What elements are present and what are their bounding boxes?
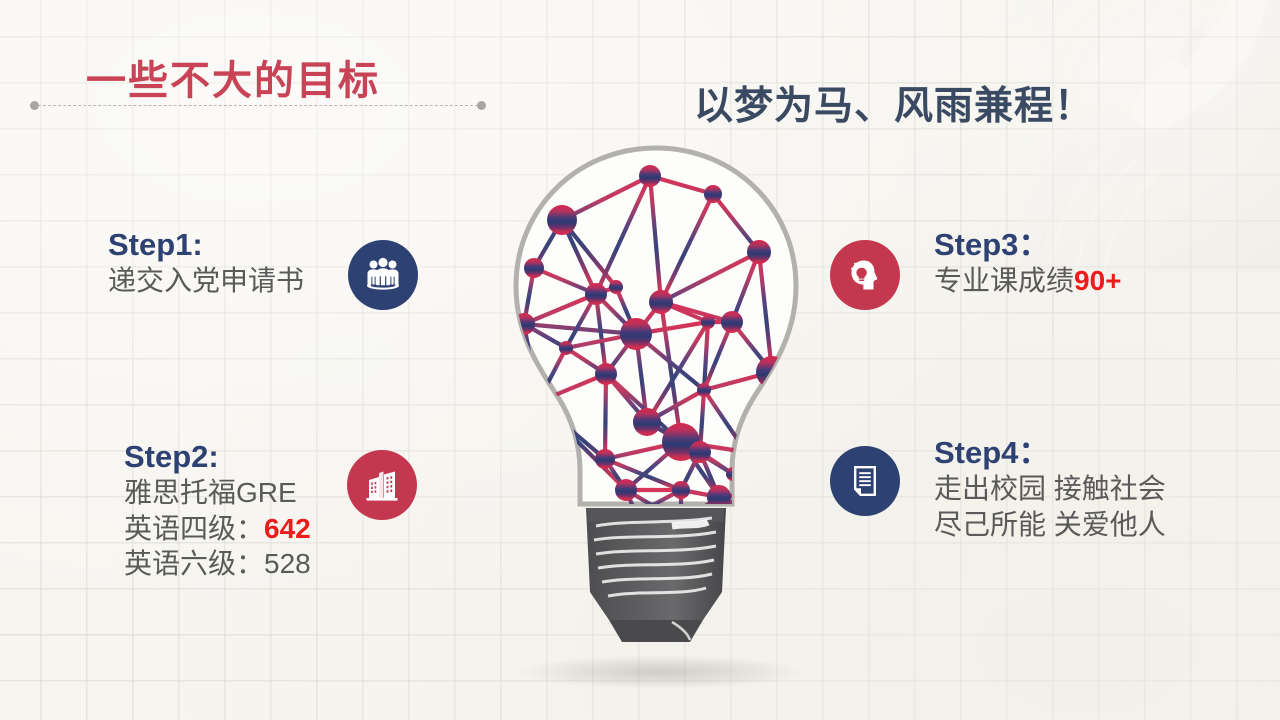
divider-dot-right (477, 101, 486, 110)
step-block-3: Step3： 专业课成绩90+ (830, 228, 1122, 310)
step4-label: Step4： (934, 436, 1166, 471)
step3-icon-badge (830, 240, 900, 310)
title-divider (30, 101, 486, 111)
step1-icon-badge (348, 240, 418, 310)
divider-dashed-line (38, 105, 478, 106)
step4-icon-badge (830, 446, 900, 516)
step-block-1: Step1: 递交入党申请书 (108, 228, 418, 310)
step3-body-highlight: 90+ (1074, 265, 1122, 296)
step3-body: 专业课成绩90+ (934, 263, 1122, 299)
page-title: 一些不大的目标 (86, 48, 380, 106)
step4-line-1: 走出校园 接触社会 (934, 471, 1166, 507)
step2-label: Step2: (124, 440, 311, 475)
step2-score-1-value: 642 (264, 513, 311, 544)
step3-texts: Step3： 专业课成绩90+ (934, 228, 1122, 299)
step1-line-1: 递交入党申请书 (108, 263, 304, 299)
group-people-icon (362, 254, 404, 296)
document-icon (844, 460, 886, 502)
step2-score-1-prefix: 英语四级： (124, 513, 264, 544)
step2-texts: Step2: 雅思托福GRE 英语四级：642 英语六级：528 (124, 440, 311, 582)
step-block-2: Step2: 雅思托福GRE 英语四级：642 英语六级：528 (124, 440, 417, 582)
step2-score-line-2: 英语六级：528 (124, 546, 311, 582)
step2-score-2-prefix: 英语六级： (124, 548, 264, 579)
bulb-screw-base (586, 508, 726, 642)
step2-line-1: 雅思托福GRE (124, 475, 311, 511)
step2-icon-badge (347, 450, 417, 520)
step4-texts: Step4： 走出校园 接触社会 尽己所能 关爱他人 (934, 436, 1166, 542)
step2-score-2-value: 528 (264, 548, 311, 579)
step1-texts: Step1: 递交入党申请书 (108, 228, 304, 299)
step4-line-2: 尽己所能 关爱他人 (934, 507, 1166, 543)
step3-label: Step3： (934, 228, 1122, 263)
step-block-4: Step4： 走出校园 接触社会 尽己所能 关爱他人 (830, 436, 1166, 542)
lightbulb-network-graphic (476, 122, 836, 682)
buildings-icon (361, 464, 403, 506)
step3-body-prefix: 专业课成绩 (934, 265, 1074, 296)
slide-canvas: 一些不大的目标 以梦为马、风雨兼程！ (0, 0, 1280, 720)
head-lightbulb-icon (843, 253, 887, 297)
step2-score-line-1: 英语四级：642 (124, 511, 311, 547)
step1-label: Step1: (108, 228, 304, 263)
